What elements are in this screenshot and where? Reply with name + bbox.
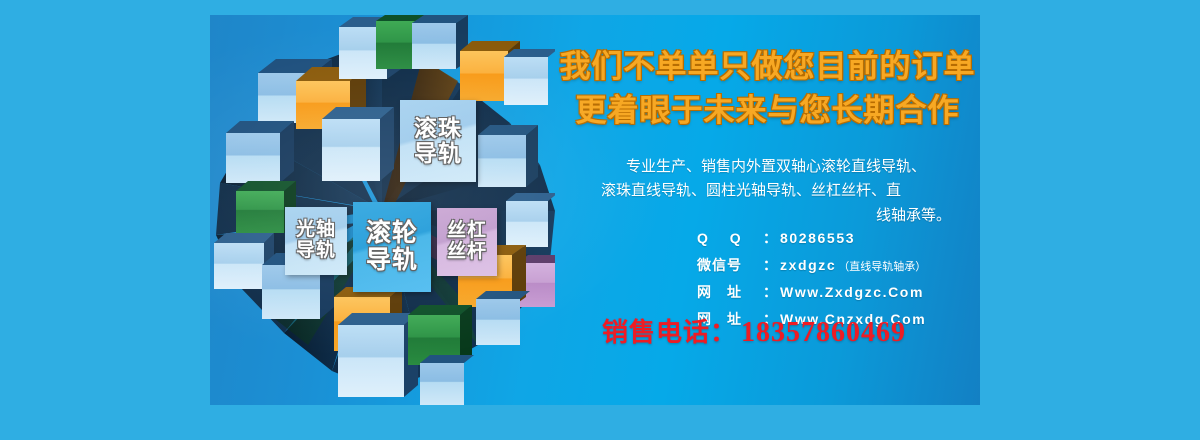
cube-burst-graphic: 滚珠 导轨 光轴 导轨 滚轮 导轨 丝杠 丝杆	[210, 15, 555, 405]
contact-row-qq: Q Q ： 80286553	[697, 228, 980, 248]
banner-content: 我们不单单只做您目前的订单 更着眼于未来与您长期合作 专业生产、销售内外置双轴心…	[555, 15, 980, 405]
product-tag-line2: 丝杆	[447, 242, 487, 263]
sales-phone-number[interactable]: 18357860469	[741, 317, 906, 348]
promo-banner: 滚珠 导轨 光轴 导轨 滚轮 导轨 丝杠 丝杆 我们不单单只做您目前的订单 更着…	[210, 15, 980, 405]
contact-value-qq[interactable]: 80286553	[780, 230, 855, 246]
banner-page: 滚珠 导轨 光轴 导轨 滚轮 导轨 丝杠 丝杆 我们不单单只做您目前的订单 更着…	[0, 0, 1200, 440]
sales-phone: 销售电话：18357860469	[602, 312, 980, 349]
product-tag-line1: 滚珠	[414, 116, 462, 141]
contact-value-wechat[interactable]: zxdgzc	[780, 257, 836, 273]
product-tag-gunzhu-daogui[interactable]: 滚珠 导轨	[400, 100, 476, 182]
product-tag-line1: 丝杠	[447, 221, 487, 242]
description: 专业生产、销售内外置双轴心滚轮直线导轨、 滚珠直线导轨、圆柱光轴导轨、丝杠丝杆、…	[601, 155, 951, 228]
headline: 我们不单单只做您目前的订单 更着眼于未来与您长期合作	[555, 45, 980, 133]
contact-row-website-1: 网 址 ： Www.Zxdgzc.Com	[697, 282, 980, 302]
product-tag-line2: 导轨	[296, 241, 336, 262]
product-tag-guangzhou-daogui[interactable]: 光轴 导轨	[285, 207, 347, 275]
product-tag-gunlun-daogui[interactable]: 滚轮 导轨	[353, 202, 431, 292]
contact-separator: ：	[763, 228, 777, 248]
product-tag-line1: 滚轮	[366, 220, 418, 247]
description-line3: 线轴承等。	[601, 204, 951, 228]
contact-label: 网 址	[697, 282, 763, 302]
description-line1: 专业生产、销售内外置双轴心滚轮直线导轨、	[601, 155, 951, 179]
headline-line1: 我们不单单只做您目前的订单	[555, 45, 980, 89]
contact-row-wechat: 微信号 ： zxdgzc （直线导轨轴承）	[697, 255, 980, 275]
contact-separator: ：	[763, 282, 777, 302]
sales-phone-label: 销售电话：	[602, 317, 737, 347]
product-tag-sigang-sigan[interactable]: 丝杠 丝杆	[437, 208, 497, 276]
contact-value-website-1[interactable]: Www.Zxdgzc.Com	[780, 284, 924, 300]
description-line2: 滚珠直线导轨、圆柱光轴导轨、丝杠丝杆、直	[601, 179, 951, 203]
headline-line2: 更着眼于未来与您长期合作	[555, 89, 980, 133]
product-tag-line2: 导轨	[366, 247, 418, 274]
contact-note-wechat: （直线导轨轴承）	[838, 258, 926, 274]
contact-label: Q Q	[697, 230, 763, 246]
product-tag-line2: 导轨	[414, 141, 462, 166]
contact-separator: ：	[763, 255, 777, 275]
product-tag-line1: 光轴	[296, 220, 336, 241]
contact-label: 微信号	[697, 255, 763, 275]
